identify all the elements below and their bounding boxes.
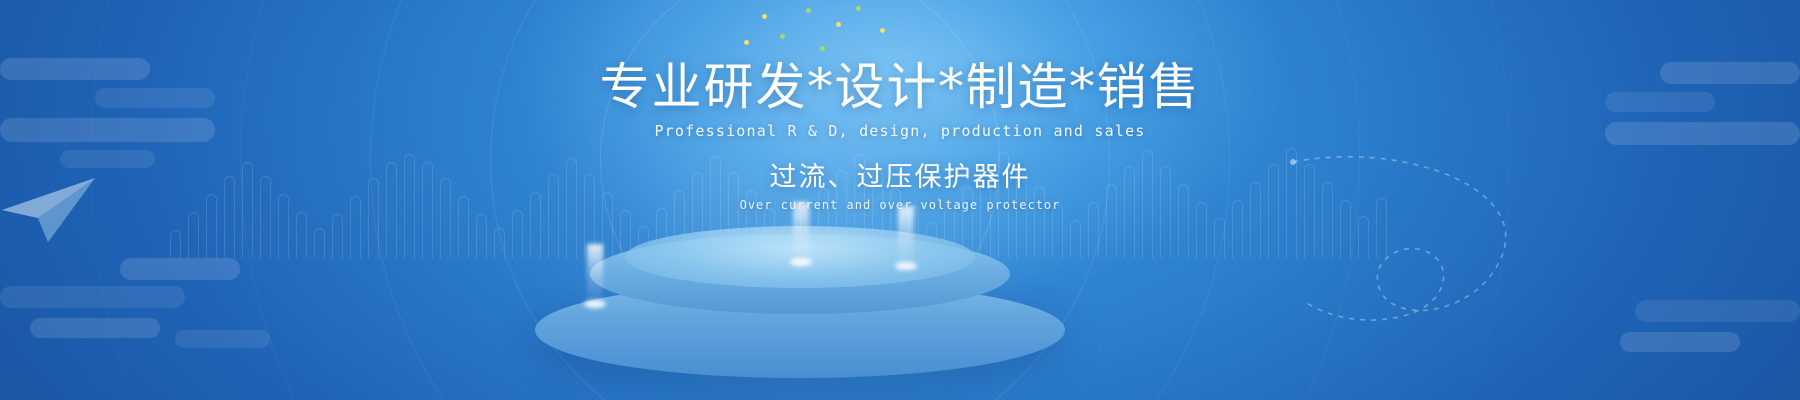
wave-bar [296, 212, 307, 258]
wave-bar [476, 214, 487, 258]
stage-podium [515, 210, 1085, 400]
subtitle2-en: Over current and over voltage protector [0, 197, 1800, 213]
hero-banner: 专业研发*设计*制造*销售 Professional R & D, design… [0, 0, 1800, 400]
cloud-pill [175, 330, 270, 348]
light-beam-dot [790, 258, 812, 266]
confetti-dot [762, 14, 767, 19]
wave-bar [314, 228, 325, 258]
cloud-pill [0, 286, 185, 308]
cloud-pill [1635, 300, 1800, 322]
confetti-dot [806, 8, 811, 13]
headline-cn: 专业研发*设计*制造*销售 [0, 58, 1800, 116]
confetti-dot [744, 40, 749, 45]
light-beam-dot [895, 262, 917, 270]
cloud-pill [1620, 332, 1740, 352]
confetti-dot [880, 28, 885, 33]
confetti-dot [780, 34, 785, 39]
wave-bar [494, 228, 505, 258]
confetti-dot [856, 6, 861, 11]
subtitle-en: Professional R & D, design, production a… [0, 122, 1800, 141]
banner-copy: 专业研发*设计*制造*销售 Professional R & D, design… [0, 58, 1800, 213]
wave-bar [170, 230, 181, 258]
cloud-pill [30, 318, 160, 338]
wave-bar [332, 214, 343, 258]
confetti-dot [820, 46, 825, 51]
light-beam [587, 244, 603, 306]
light-beam [898, 206, 914, 268]
wave-bar [1214, 218, 1225, 258]
cloud-pill [120, 258, 240, 280]
light-beam-dot [584, 300, 606, 308]
headline2-cn: 过流、过压保护器件 [0, 161, 1800, 195]
wave-bar [188, 212, 199, 258]
confetti-dot [836, 22, 841, 27]
